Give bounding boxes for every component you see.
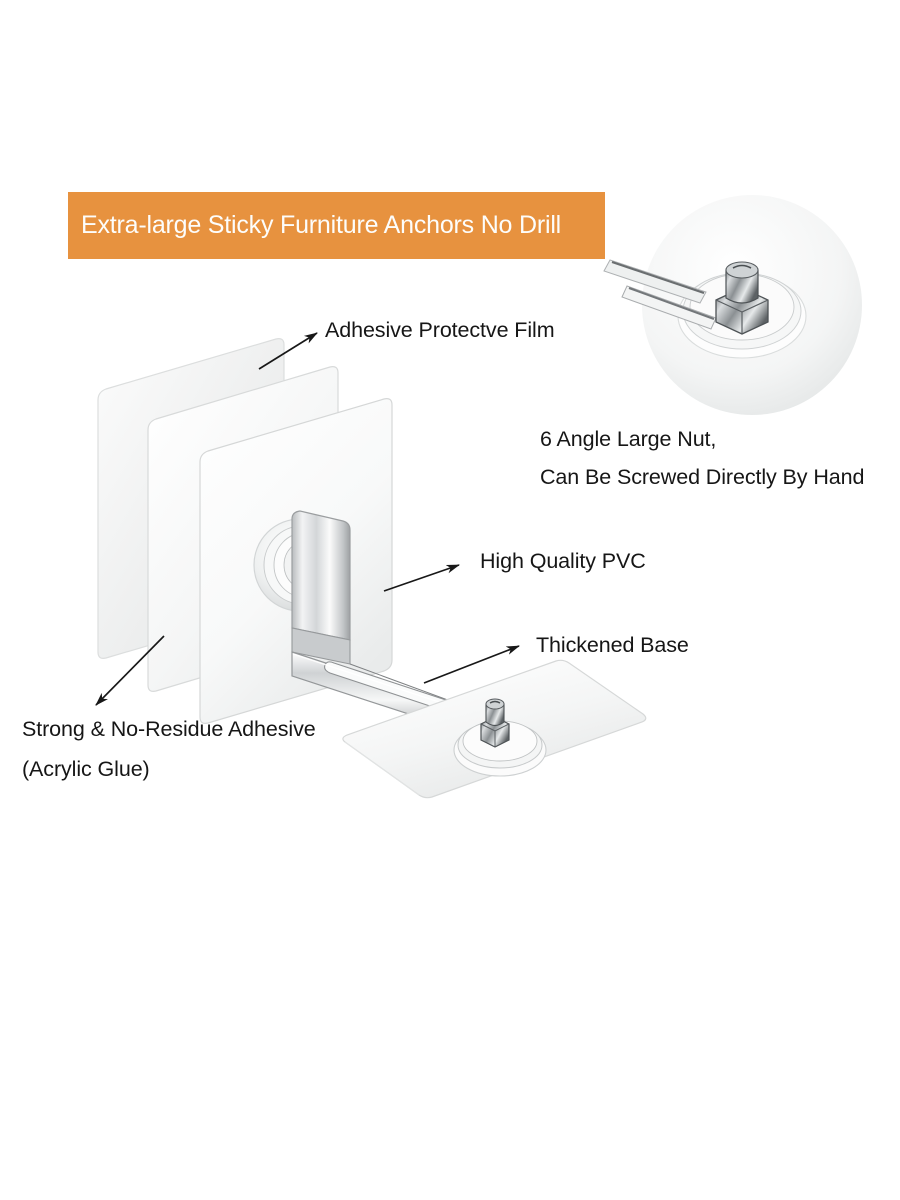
callout-adhesive-glue-line1: Strong & No-Residue Adhesive (22, 717, 316, 741)
product-illustration (0, 0, 900, 1200)
callout-large-nut-line2: Can Be Screwed Directly By Hand (540, 458, 864, 496)
callout-adhesive-glue: Strong & No-Residue Adhesive (Acrylic Gl… (22, 709, 316, 789)
callout-large-nut-line1: 6 Angle Large Nut, (540, 427, 716, 451)
callout-large-nut: 6 Angle Large Nut, Can Be Screwed Direct… (540, 420, 864, 496)
callout-thickened-base: Thickened Base (536, 633, 689, 658)
infographic-page: Extra-large Sticky Furniture Anchors No … (0, 0, 900, 1200)
callout-adhesive-film: Adhesive Protectve Film (325, 318, 555, 343)
title-banner: Extra-large Sticky Furniture Anchors No … (68, 192, 605, 259)
nut-closeup-inset (604, 195, 862, 415)
callout-adhesive-glue-line2: (Acrylic Glue) (22, 749, 316, 789)
callout-high-quality-pvc: High Quality PVC (480, 549, 646, 574)
banner-title: Extra-large Sticky Furniture Anchors No … (68, 211, 561, 240)
